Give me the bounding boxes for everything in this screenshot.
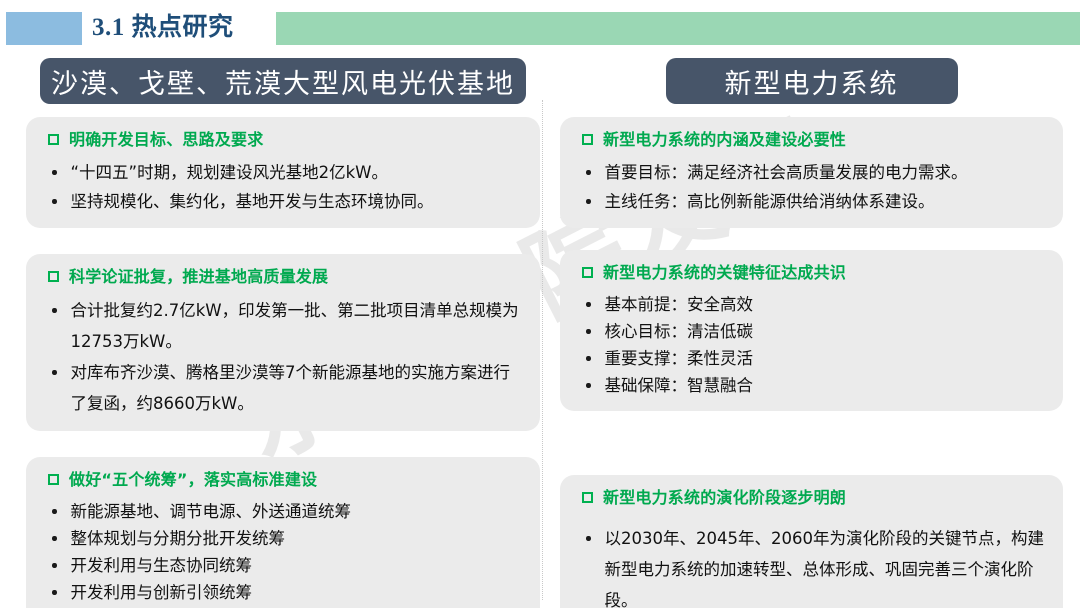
list-item-text: 基础保障：智慧融合 — [605, 372, 1050, 399]
round-bullet-icon — [586, 536, 591, 541]
list-item-text: 核心目标：清洁低碳 — [605, 318, 1050, 345]
card-heading-text: 科学论证批复，推进基地高质量发展 — [69, 266, 328, 288]
section-badge-desert-base: 沙漠、戈壁、荒漠大型风电光伏基地 — [40, 58, 526, 104]
round-bullet-icon — [586, 383, 591, 388]
card-left-2: 科学论证批复，推进基地高质量发展 合计批复约2.7亿kW，印发第一批、第二批项目… — [26, 254, 540, 431]
card-heading-text: 新型电力系统的演化阶段逐步明朗 — [603, 487, 846, 509]
list-item-text: 新能源基地、调节电源、外送通道统筹 — [71, 498, 527, 525]
list-item-text: 坚持规模化、集约化，基地开发与生态环境协同。 — [71, 187, 527, 216]
square-bullet-icon — [582, 134, 593, 145]
header-green-bar — [276, 12, 1080, 45]
list-item: 以2030年、2045年、2060年为演化阶段的关键节点，构建新型电力系统的加速… — [586, 523, 1049, 608]
list-item-text: 基本前提：安全高效 — [605, 291, 1050, 318]
header-blue-accent-block — [6, 12, 82, 45]
round-bullet-icon — [52, 590, 57, 595]
card-right-2: 新型电力系统的关键特征达成共识 基本前提：安全高效 核心目标：清洁低碳 重要支撑… — [560, 250, 1063, 411]
square-bullet-icon — [48, 134, 59, 145]
card-heading-row: 新型电力系统的内涵及建设必要性 — [582, 129, 1049, 151]
card-right-3: 新型电力系统的演化阶段逐步明朗 以2030年、2045年、2060年为演化阶段的… — [560, 475, 1063, 608]
list-item-text: 开发利用与生态协同统筹 — [71, 552, 527, 579]
round-bullet-icon — [52, 308, 57, 313]
round-bullet-icon — [586, 356, 591, 361]
list-item-text: 对库布齐沙漠、腾格里沙漠等7个新能源基地的实施方案进行了复函，约8660万kW。 — [71, 357, 527, 419]
square-bullet-icon — [582, 267, 593, 278]
list-item-text: 重要支撑：柔性灵活 — [605, 345, 1050, 372]
list-item: 首要目标：满足经济社会高质量发展的电力需求。 — [586, 158, 1049, 187]
list-item: “十四五”时期，规划建设风光基地2亿kW。 — [52, 158, 526, 187]
list-item: 开发利用与生态协同统筹 — [52, 552, 526, 579]
list-item-text: 以2030年、2045年、2060年为演化阶段的关键节点，构建新型电力系统的加速… — [605, 523, 1050, 608]
card-heading-text: 做好“五个统筹”，落实高标准建设 — [69, 469, 317, 491]
square-bullet-icon — [48, 271, 59, 282]
round-bullet-icon — [586, 170, 591, 175]
card-heading-row: 做好“五个统筹”，落实高标准建设 — [48, 469, 526, 491]
round-bullet-icon — [52, 536, 57, 541]
list-item: 整体规划与分期分批开发统筹 — [52, 525, 526, 552]
list-item: 坚持规模化、集约化，基地开发与生态环境协同。 — [52, 187, 526, 216]
list-item: 基本前提：安全高效 — [586, 291, 1049, 318]
card-left-1: 明确开发目标、思路及要求 “十四五”时期，规划建设风光基地2亿kW。 坚持规模化… — [26, 117, 540, 228]
list-item-text: 整体规划与分期分批开发统筹 — [71, 525, 527, 552]
round-bullet-icon — [586, 302, 591, 307]
round-bullet-icon — [52, 370, 57, 375]
list-item-text: 合计批复约2.7亿kW，印发第一批、第二批项目清单总规模为12753万kW。 — [71, 295, 527, 357]
card-heading-text: 新型电力系统的内涵及建设必要性 — [603, 129, 846, 151]
square-bullet-icon — [48, 474, 59, 485]
round-bullet-icon — [586, 199, 591, 204]
round-bullet-icon — [52, 563, 57, 568]
card-heading-row: 新型电力系统的关键特征达成共识 — [582, 262, 1049, 284]
section-badge-new-power-system: 新型电力系统 — [666, 58, 958, 104]
list-item-text: 主线任务：高比例新能源供给消纳体系建设。 — [605, 187, 1050, 216]
slide-root: 水电总院发布 3.1 热点研究 沙漠、戈壁、荒漠大型风电光伏基地 明确开发目标、… — [0, 0, 1080, 608]
list-item: 新能源基地、调节电源、外送通道统筹 — [52, 498, 526, 525]
round-bullet-icon — [586, 329, 591, 334]
list-item-text: 首要目标：满足经济社会高质量发展的电力需求。 — [605, 158, 1050, 187]
list-item: 开发利用与创新引领统筹 — [52, 579, 526, 606]
slide-header: 3.1 热点研究 — [0, 0, 1080, 52]
bullet-list: 以2030年、2045年、2060年为演化阶段的关键节点，构建新型电力系统的加速… — [574, 523, 1049, 608]
card-heading-row: 科学论证批复，推进基地高质量发展 — [48, 266, 526, 288]
list-item: 核心目标：清洁低碳 — [586, 318, 1049, 345]
bullet-list: 基本前提：安全高效 核心目标：清洁低碳 重要支撑：柔性灵活 基础保障：智慧融合 — [574, 291, 1049, 399]
page-title: 3.1 热点研究 — [92, 10, 234, 46]
square-bullet-icon — [582, 492, 593, 503]
card-heading-row: 新型电力系统的演化阶段逐步明朗 — [582, 487, 1049, 509]
list-item: 主线任务：高比例新能源供给消纳体系建设。 — [586, 187, 1049, 216]
list-item: 重要支撑：柔性灵活 — [586, 345, 1049, 372]
bullet-list: 新能源基地、调节电源、外送通道统筹 整体规划与分期分批开发统筹 开发利用与生态协… — [40, 498, 526, 608]
round-bullet-icon — [52, 509, 57, 514]
list-item: 基础保障：智慧融合 — [586, 372, 1049, 399]
round-bullet-icon — [52, 199, 57, 204]
card-heading-text: 新型电力系统的关键特征达成共识 — [603, 262, 846, 284]
bullet-list: 首要目标：满足经济社会高质量发展的电力需求。 主线任务：高比例新能源供给消纳体系… — [574, 158, 1049, 216]
list-item: 对库布齐沙漠、腾格里沙漠等7个新能源基地的实施方案进行了复函，约8660万kW。 — [52, 357, 526, 419]
bullet-list: “十四五”时期，规划建设风光基地2亿kW。 坚持规模化、集约化，基地开发与生态环… — [40, 158, 526, 216]
list-item-text: 开发利用与创新引领统筹 — [71, 579, 527, 606]
round-bullet-icon — [52, 170, 57, 175]
card-left-3: 做好“五个统筹”，落实高标准建设 新能源基地、调节电源、外送通道统筹 整体规划与… — [26, 457, 540, 608]
column-divider — [542, 100, 543, 600]
card-heading-row: 明确开发目标、思路及要求 — [48, 129, 526, 151]
card-right-1: 新型电力系统的内涵及建设必要性 首要目标：满足经济社会高质量发展的电力需求。 主… — [560, 117, 1063, 228]
card-heading-text: 明确开发目标、思路及要求 — [69, 129, 263, 151]
content-column-right: 新型电力系统 新型电力系统的内涵及建设必要性 首要目标：满足经济社会高质量发展的… — [560, 58, 1063, 608]
bullet-list: 合计批复约2.7亿kW，印发第一批、第二批项目清单总规模为12753万kW。 对… — [40, 295, 526, 419]
content-column-left: 沙漠、戈壁、荒漠大型风电光伏基地 明确开发目标、思路及要求 “十四五”时期，规划… — [26, 58, 540, 608]
list-item-text: “十四五”时期，规划建设风光基地2亿kW。 — [71, 158, 527, 187]
list-item: 合计批复约2.7亿kW，印发第一批、第二批项目清单总规模为12753万kW。 — [52, 295, 526, 357]
